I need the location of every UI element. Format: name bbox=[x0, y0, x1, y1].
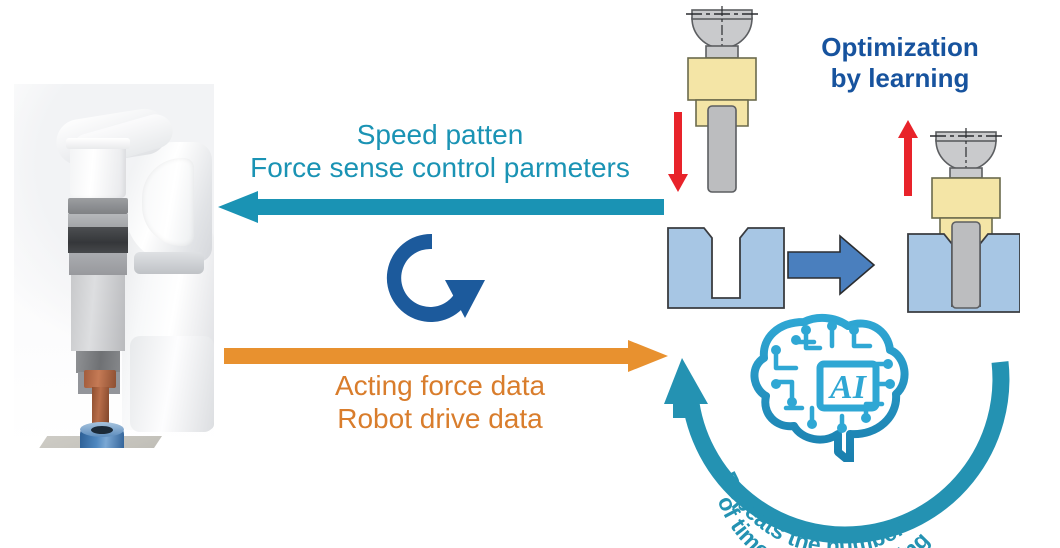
feedback-arrow-to-robot bbox=[218, 190, 664, 224]
insertion-state-after bbox=[890, 100, 1020, 316]
acting-force-label-line1: Acting force data bbox=[220, 369, 660, 402]
insertion-state-before bbox=[660, 2, 790, 312]
copper-peg-head bbox=[84, 370, 116, 388]
force-sensor-upper bbox=[68, 198, 128, 214]
optimization-title-line1: Optimization bbox=[770, 32, 1030, 63]
robot-joint-band bbox=[134, 252, 204, 274]
optimization-title-line2: by learning bbox=[770, 63, 1030, 94]
speed-pattern-label-line2: Force sense control parmeters bbox=[220, 151, 660, 184]
robot-arm-photo bbox=[14, 84, 214, 448]
robot-lower-body bbox=[130, 336, 214, 432]
force-sensor-dark-band bbox=[68, 227, 128, 253]
blue-ring-bore bbox=[91, 426, 113, 434]
circular-loop-arrow-icon bbox=[375, 228, 490, 328]
tool-housing bbox=[71, 275, 125, 351]
robot-wrist bbox=[70, 144, 126, 198]
robot-wrist-flange bbox=[66, 138, 130, 149]
robot-drive-label-line2: Robot drive data bbox=[220, 402, 660, 435]
speed-pattern-label-line1: Speed patten bbox=[220, 118, 660, 151]
force-sensor-lower bbox=[69, 253, 127, 275]
data-arrow-to-ai bbox=[224, 340, 668, 372]
repeat-loop-curved-arrow: Repeats the number of times set for lear… bbox=[660, 300, 1010, 548]
force-sensor-ring bbox=[68, 214, 128, 227]
transition-block-arrow-icon bbox=[786, 232, 876, 298]
diagram-canvas: Speed patten Force sense control parmete… bbox=[0, 0, 1060, 548]
